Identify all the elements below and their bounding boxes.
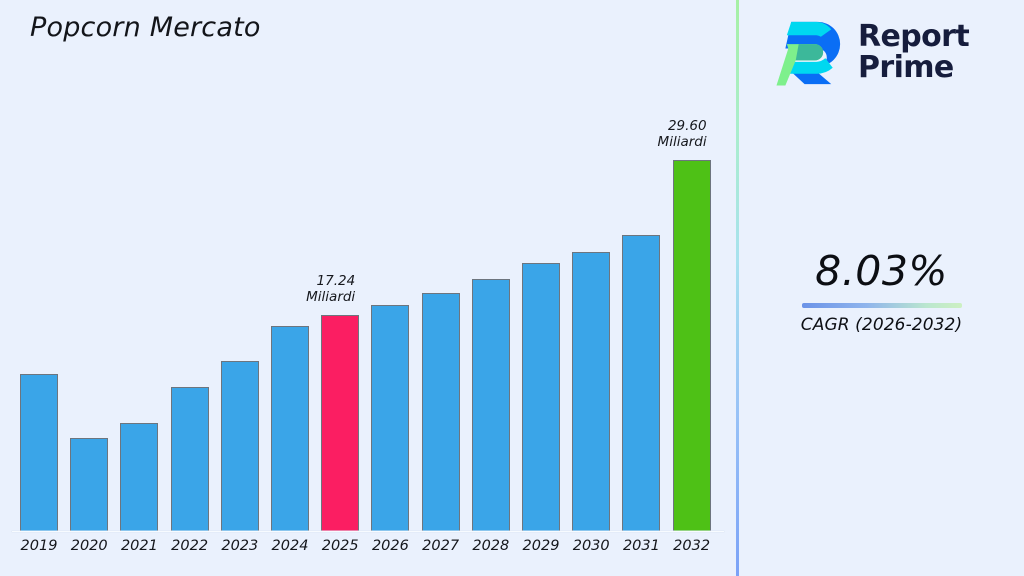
bar-2030 — [572, 252, 610, 532]
x-tick-label-2029: 2029 — [516, 538, 566, 554]
bar-2024 — [271, 326, 309, 532]
x-tick-label-2028: 2028 — [466, 538, 516, 554]
bar-value-number-2032: 29.60 — [563, 119, 707, 135]
bar-value-label-2025: 17.24Miliardi — [211, 274, 355, 306]
x-tick-label-2025: 2025 — [315, 538, 365, 554]
cagr-block: 8.03% CAGR (2026-2032) — [739, 250, 1024, 335]
x-tick-label-2030: 2030 — [566, 538, 616, 554]
bar-2025 — [321, 315, 359, 532]
bar-2021 — [120, 423, 158, 532]
cagr-caption: CAGR (2026-2032) — [739, 315, 1024, 335]
report-prime-logo-mark — [775, 16, 849, 90]
logo-word-report: Report — [858, 22, 969, 53]
bar-2022 — [171, 387, 209, 532]
x-axis-baseline — [12, 531, 724, 532]
bar-value-number-2025: 17.24 — [211, 274, 355, 290]
bar-2032 — [673, 160, 711, 532]
bar-2031 — [622, 235, 660, 532]
x-tick-label-2032: 2032 — [667, 538, 717, 554]
x-tick-label-2022: 2022 — [165, 538, 215, 554]
x-tick-label-2023: 2023 — [215, 538, 265, 554]
x-tick-label-2024: 2024 — [265, 538, 315, 554]
x-tick-label-2031: 2031 — [616, 538, 666, 554]
x-tick-label-2027: 2027 — [416, 538, 466, 554]
bar-value-unit-2032: Miliardi — [563, 135, 707, 151]
bar-value-unit-2025: Miliardi — [211, 290, 355, 306]
cagr-value: 8.03% — [739, 250, 1024, 293]
bar-chart-plot-area — [0, 110, 737, 532]
bar-value-label-2032: 29.60Miliardi — [563, 119, 707, 151]
bar-2019 — [20, 374, 58, 532]
x-tick-label-2026: 2026 — [365, 538, 415, 554]
chart-panel: Popcorn Mercato 201920202021202220232024… — [0, 0, 737, 576]
x-tick-label-2020: 2020 — [64, 538, 114, 554]
bar-2020 — [70, 438, 108, 532]
report-prime-logo: Report Prime — [775, 12, 1000, 94]
brand-panel: Report Prime 8.03% CAGR (2026-2032) — [739, 0, 1024, 576]
bar-2027 — [422, 293, 460, 532]
page-title: Popcorn Mercato — [30, 12, 261, 43]
bar-2026 — [371, 305, 409, 532]
infographic-root: Popcorn Mercato 201920202021202220232024… — [0, 0, 1024, 576]
x-tick-label-2019: 2019 — [14, 538, 64, 554]
cagr-divider-rule — [802, 303, 962, 308]
bar-2029 — [522, 263, 560, 532]
logo-wordmark: Report Prime — [858, 22, 969, 83]
bar-2028 — [472, 279, 510, 532]
bar-2023 — [221, 361, 259, 532]
logo-word-prime: Prime — [858, 53, 969, 84]
x-tick-label-2021: 2021 — [114, 538, 164, 554]
